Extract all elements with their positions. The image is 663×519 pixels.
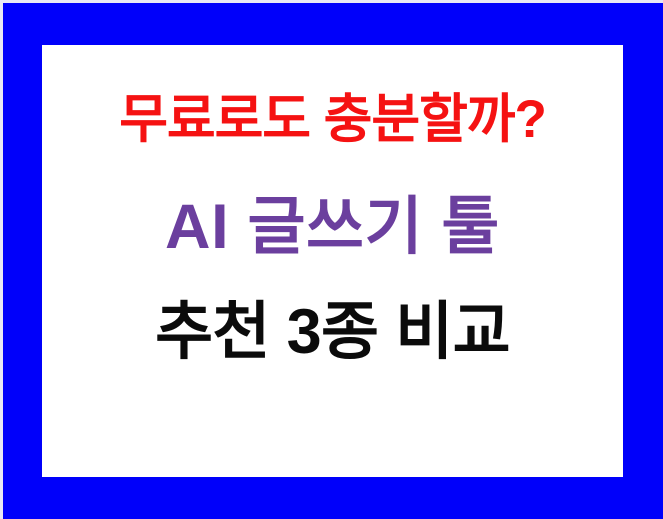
headline-question: 무료로도 충분할까?: [42, 93, 623, 146]
headline-product: AI 글쓰기 툴: [42, 196, 623, 259]
thumbnail-canvas: 무료로도 충분할까? AI 글쓰기 툴 추천 3종 비교: [0, 0, 663, 519]
white-content-card: 무료로도 충분할까? AI 글쓰기 툴 추천 3종 비교: [42, 45, 623, 477]
headline-subject: 추천 3종 비교: [42, 301, 623, 364]
